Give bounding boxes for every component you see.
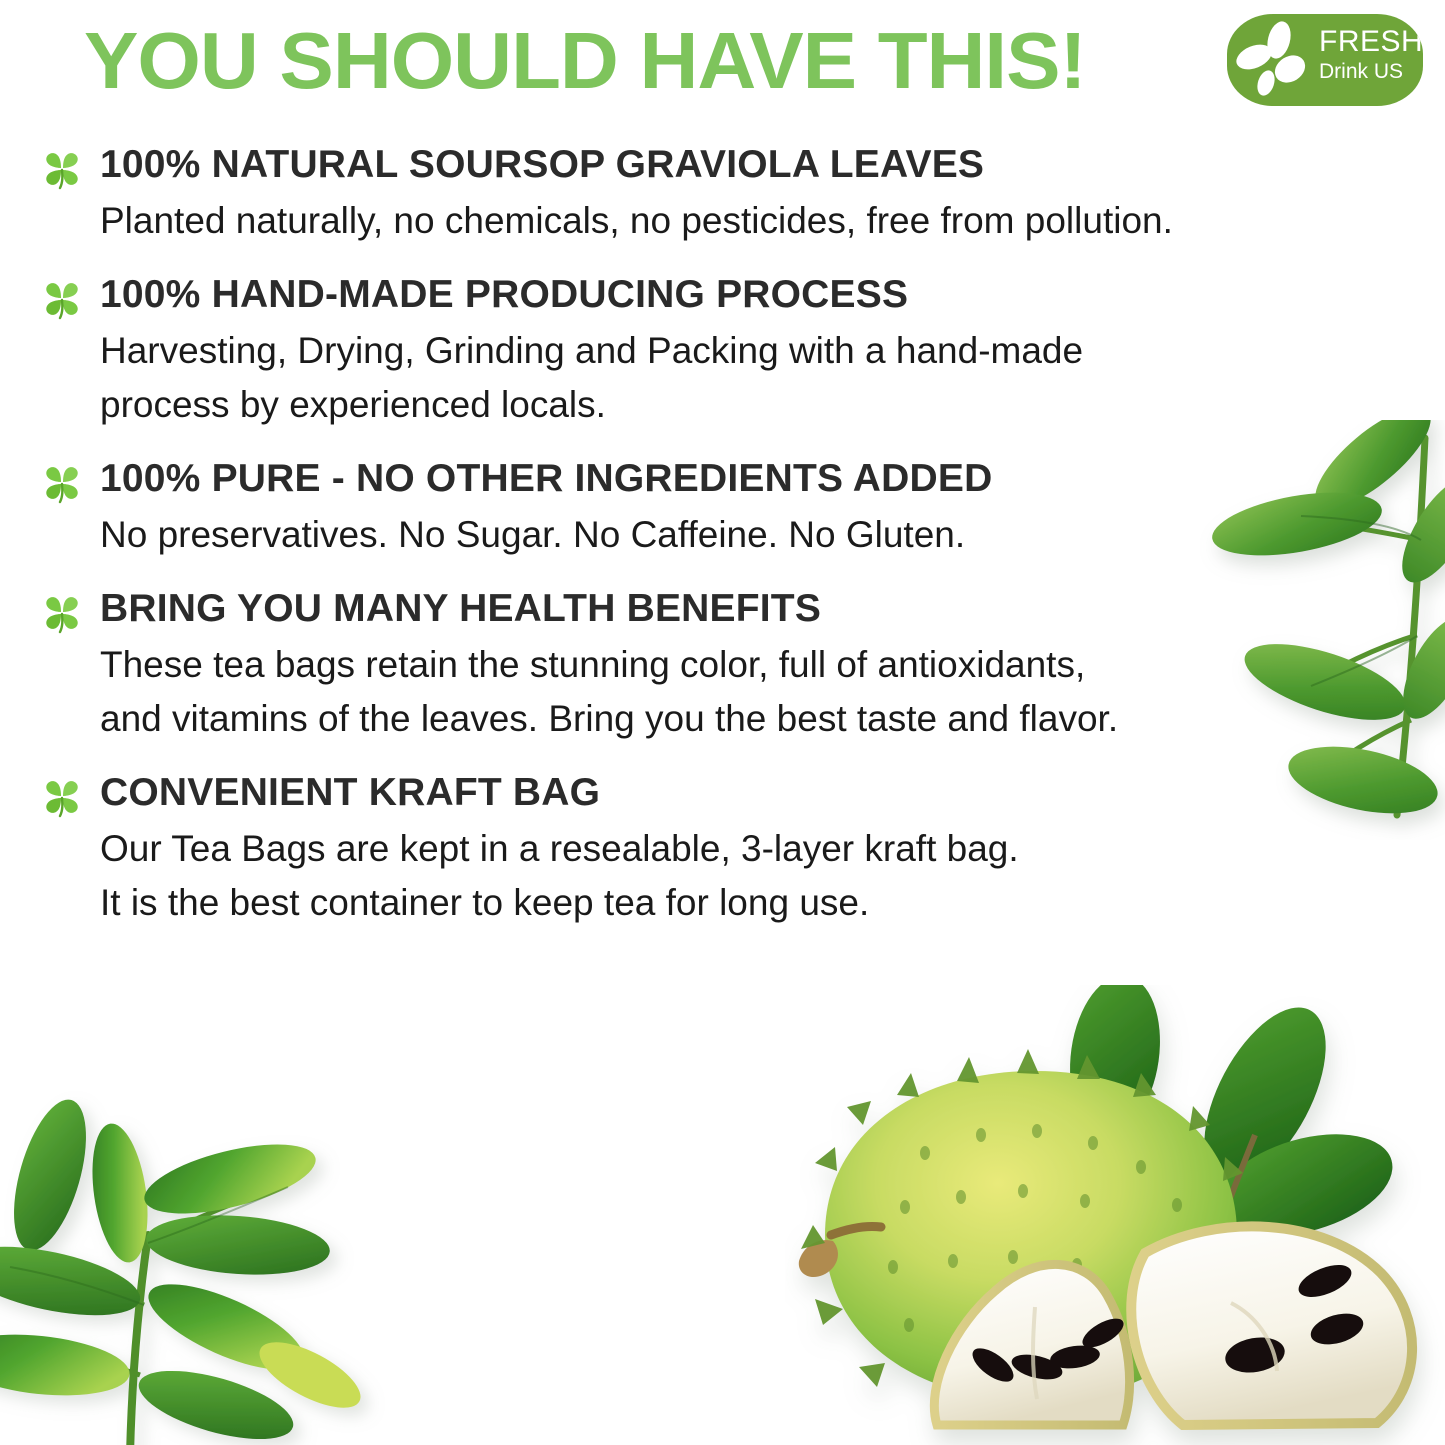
feature-description-line: Our Tea Bags are kept in a resealable, 3… [100, 822, 1445, 876]
feature-description: No preservatives. No Sugar. No Caffeine.… [100, 508, 1445, 562]
feature-description: Planted naturally, no chemicals, no pest… [100, 194, 1445, 248]
clover-icon [40, 276, 84, 320]
feature-title: 100% PURE - NO OTHER INGREDIENTS ADDED [100, 454, 1445, 504]
page-title: YOU SHOULD HAVE THIS! [84, 18, 1086, 104]
feature-description-line: and vitamins of the leaves. Bring you th… [100, 692, 1445, 746]
brand-logo: FRESH Drink US [1227, 14, 1423, 106]
feature-description-line: Harvesting, Drying, Grinding and Packing… [100, 324, 1445, 378]
feature-description: Harvesting, Drying, Grinding and Packing… [100, 324, 1445, 432]
feature-list: 100% NATURAL SOURSOP GRAVIOLA LEAVES Pla… [0, 140, 1445, 952]
feature-description-line: These tea bags retain the stunning color… [100, 638, 1445, 692]
feature-description-line: It is the best container to keep tea for… [100, 876, 1445, 930]
soursop-leaf-branch-left-icon [0, 1075, 400, 1445]
product-infographic: YOU SHOULD HAVE THIS! FRESH Drink US [0, 0, 1445, 1445]
feature-item: 100% HAND-MADE PRODUCING PROCESS Harvest… [0, 270, 1445, 432]
feature-item: CONVENIENT KRAFT BAG Our Tea Bags are ke… [0, 768, 1445, 930]
header: YOU SHOULD HAVE THIS! FRESH Drink US [0, 0, 1445, 120]
soursop-fruit-with-slices-icon [785, 985, 1445, 1445]
clover-icon [40, 146, 84, 190]
feature-description-line: No preservatives. No Sugar. No Caffeine.… [100, 508, 1445, 562]
feature-description: These tea bags retain the stunning color… [100, 638, 1445, 746]
feature-title: BRING YOU MANY HEALTH BENEFITS [100, 584, 1445, 634]
feature-description-line: Planted naturally, no chemicals, no pest… [100, 194, 1445, 248]
logo-line-fresh: FRESH [1319, 26, 1419, 58]
clover-icon [40, 590, 84, 634]
logo-wordmark: FRESH Drink US [1319, 26, 1419, 84]
clover-icon [40, 774, 84, 818]
feature-item: BRING YOU MANY HEALTH BENEFITS These tea… [0, 584, 1445, 746]
clover-icon [40, 460, 84, 504]
feature-description-line: process by experienced locals. [100, 378, 1445, 432]
feature-title: CONVENIENT KRAFT BAG [100, 768, 1445, 818]
leaf-cluster-icon [1235, 21, 1315, 99]
feature-item: 100% PURE - NO OTHER INGREDIENTS ADDED N… [0, 454, 1445, 562]
feature-item: 100% NATURAL SOURSOP GRAVIOLA LEAVES Pla… [0, 140, 1445, 248]
logo-line-drink-us: Drink US [1319, 60, 1419, 84]
feature-title: 100% NATURAL SOURSOP GRAVIOLA LEAVES [100, 140, 1445, 190]
feature-description: Our Tea Bags are kept in a resealable, 3… [100, 822, 1445, 930]
feature-title: 100% HAND-MADE PRODUCING PROCESS [100, 270, 1445, 320]
